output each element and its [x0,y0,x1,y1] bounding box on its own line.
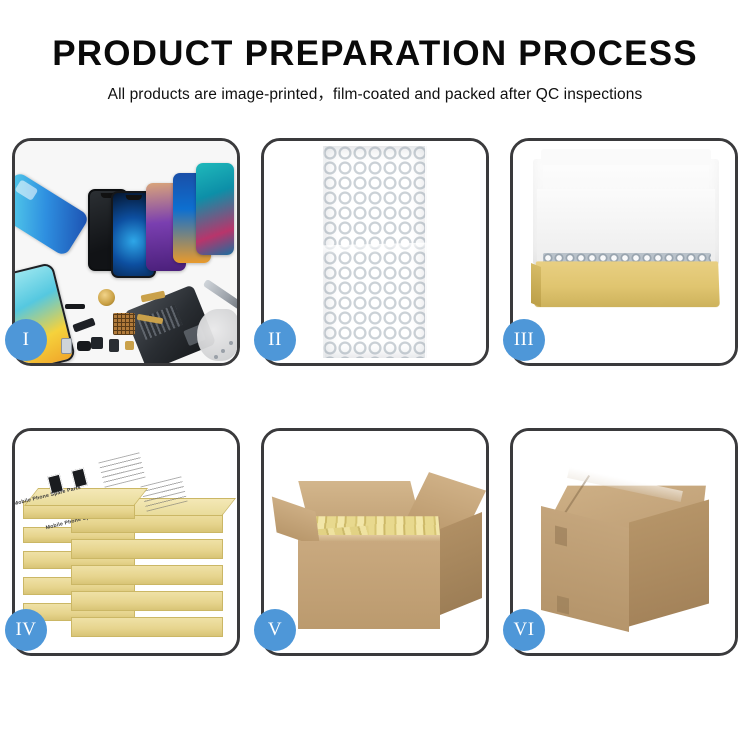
step-panel-2: II [261,138,489,366]
spare-part-flex-cable [72,317,95,332]
step-4-image: Mobile Phone Spare Parts Mobile Phone Sp… [15,431,237,653]
step-badge-1: I [5,319,47,361]
carton-front-face [298,541,440,629]
product-preparation-infographic: PRODUCT PREPARATION PROCESS All products… [0,0,750,750]
step-badge-2: II [254,319,296,361]
step-panel-3: III [510,138,738,366]
step-1-image [15,141,237,363]
carton-side-face [440,512,482,615]
spare-part-speaker-coil [98,289,115,306]
bubble-wrap-illustration [323,146,427,358]
spare-part-speaker [77,341,91,351]
page-subtitle: All products are image-printed，film-coat… [0,82,750,104]
step-panel-6: VI [510,428,738,656]
header: PRODUCT PREPARATION PROCESS All products… [0,0,750,104]
spare-part-screw [214,355,218,359]
spare-part-chip [125,341,134,350]
step-2-image [264,141,486,363]
retail-box-slab [71,617,223,637]
inner-box-liner [537,189,715,263]
inner-box-side [531,263,541,307]
retail-box-slab [71,539,223,559]
step-6-image [513,431,735,653]
step-3-image [513,141,735,363]
step-badge-3: III [503,319,545,361]
phone-lineup-illustration [15,141,237,363]
retail-box-slab [71,591,223,611]
inner-box-tray [534,261,720,307]
step-panel-5: V [261,428,489,656]
spare-part-screw [229,341,233,345]
step-badge-4: IV [5,609,47,651]
stacked-boxes-illustration: Mobile Phone Spare Parts Mobile Phone Sp… [15,431,237,653]
lid-spec-lines [98,452,145,487]
step-panel-1: I [12,138,240,366]
spare-part-chip [109,339,119,352]
carton-side-face [629,500,709,627]
bubble-wrap-sheen [323,242,427,255]
spare-part-bar [65,304,85,309]
phone-back-teal [15,171,90,257]
spare-part-chip [91,337,103,349]
step-5-image [264,431,486,653]
retail-box-slab [71,565,223,585]
hand-illustration [197,309,237,361]
retail-box-top-back [23,501,135,519]
spare-part-connector-grid [113,313,135,335]
phone-screen-teal-magenta [196,163,234,255]
step-panel-4: Mobile Phone Spare Parts Mobile Phone Sp… [12,428,240,656]
step-badge-5: V [254,609,296,651]
notch-icon [125,195,141,200]
screwdriver-icon [203,279,237,311]
spare-part-camera [61,338,72,354]
spare-part-screw [221,349,225,353]
carton-hand-hole [555,526,567,547]
process-steps-grid: I II III [12,138,738,656]
carton-hand-hole [557,596,569,615]
step-badge-6: VI [503,609,545,651]
page-title: PRODUCT PREPARATION PROCESS [0,36,750,73]
